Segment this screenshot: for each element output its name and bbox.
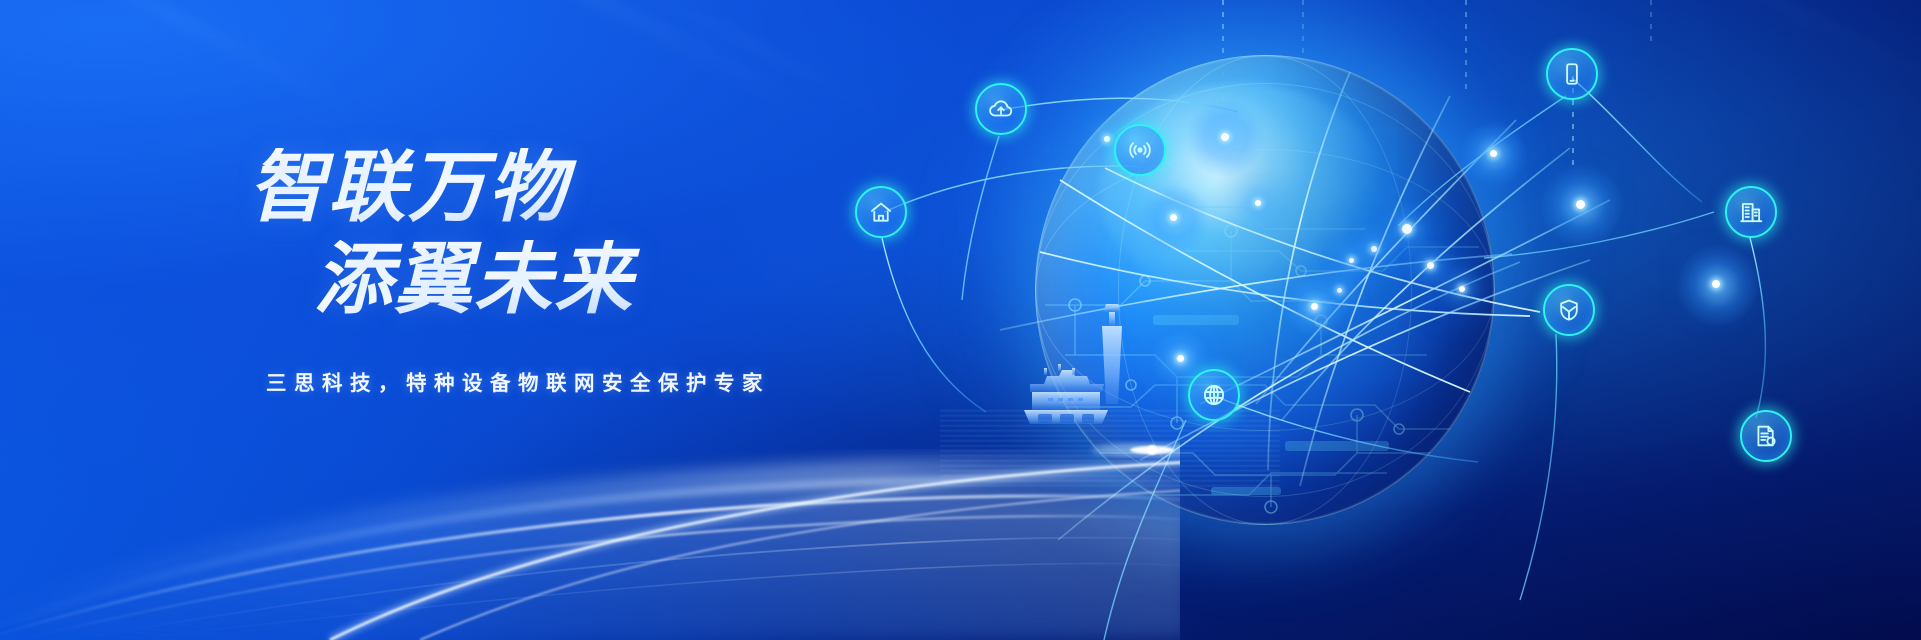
network-node [1712, 280, 1720, 288]
cloud-upload-icon[interactable] [975, 83, 1027, 135]
headline-line-2: 添翼未来 [314, 240, 948, 318]
network-node [1177, 355, 1184, 362]
network-node [1311, 303, 1318, 310]
globe-network-icon[interactable] [1188, 369, 1240, 421]
network-node [1490, 150, 1497, 157]
network-node [1402, 224, 1412, 234]
network-node [1349, 258, 1354, 263]
shield-icon[interactable] [1543, 284, 1595, 336]
hero-subtitle: 三思科技，特种设备物联网安全保护专家 [266, 366, 948, 396]
smartphone-icon[interactable] [1546, 48, 1598, 100]
dotted-descender [1650, 0, 1652, 48]
network-node [1576, 200, 1585, 209]
network-node [1221, 133, 1229, 141]
building-icon[interactable] [1725, 186, 1777, 238]
headline-line-1: 智联万物 [248, 148, 948, 226]
haze-streak [0, 0, 359, 114]
hero-banner: 智联万物 添翼未来 三思科技，特种设备物联网安全保护专家 [0, 0, 1921, 640]
network-node [1427, 262, 1434, 269]
hero-copy: 智联万物 添翼未来 三思科技，特种设备物联网安全保护专家 [248, 148, 948, 396]
globe-sphere [1035, 55, 1495, 525]
network-node [1104, 136, 1110, 142]
network-node [1459, 286, 1465, 292]
report-doc-icon[interactable] [1740, 410, 1792, 462]
globe-rim [1035, 55, 1495, 525]
globe-graphic [1035, 55, 1495, 525]
network-node [1371, 246, 1377, 252]
network-node [1170, 214, 1177, 221]
network-node [1255, 200, 1261, 206]
haze-streak [356, 0, 824, 117]
haze-streak [579, 0, 921, 134]
wifi-signal-icon[interactable] [1114, 124, 1166, 176]
home-icon[interactable] [855, 186, 907, 238]
